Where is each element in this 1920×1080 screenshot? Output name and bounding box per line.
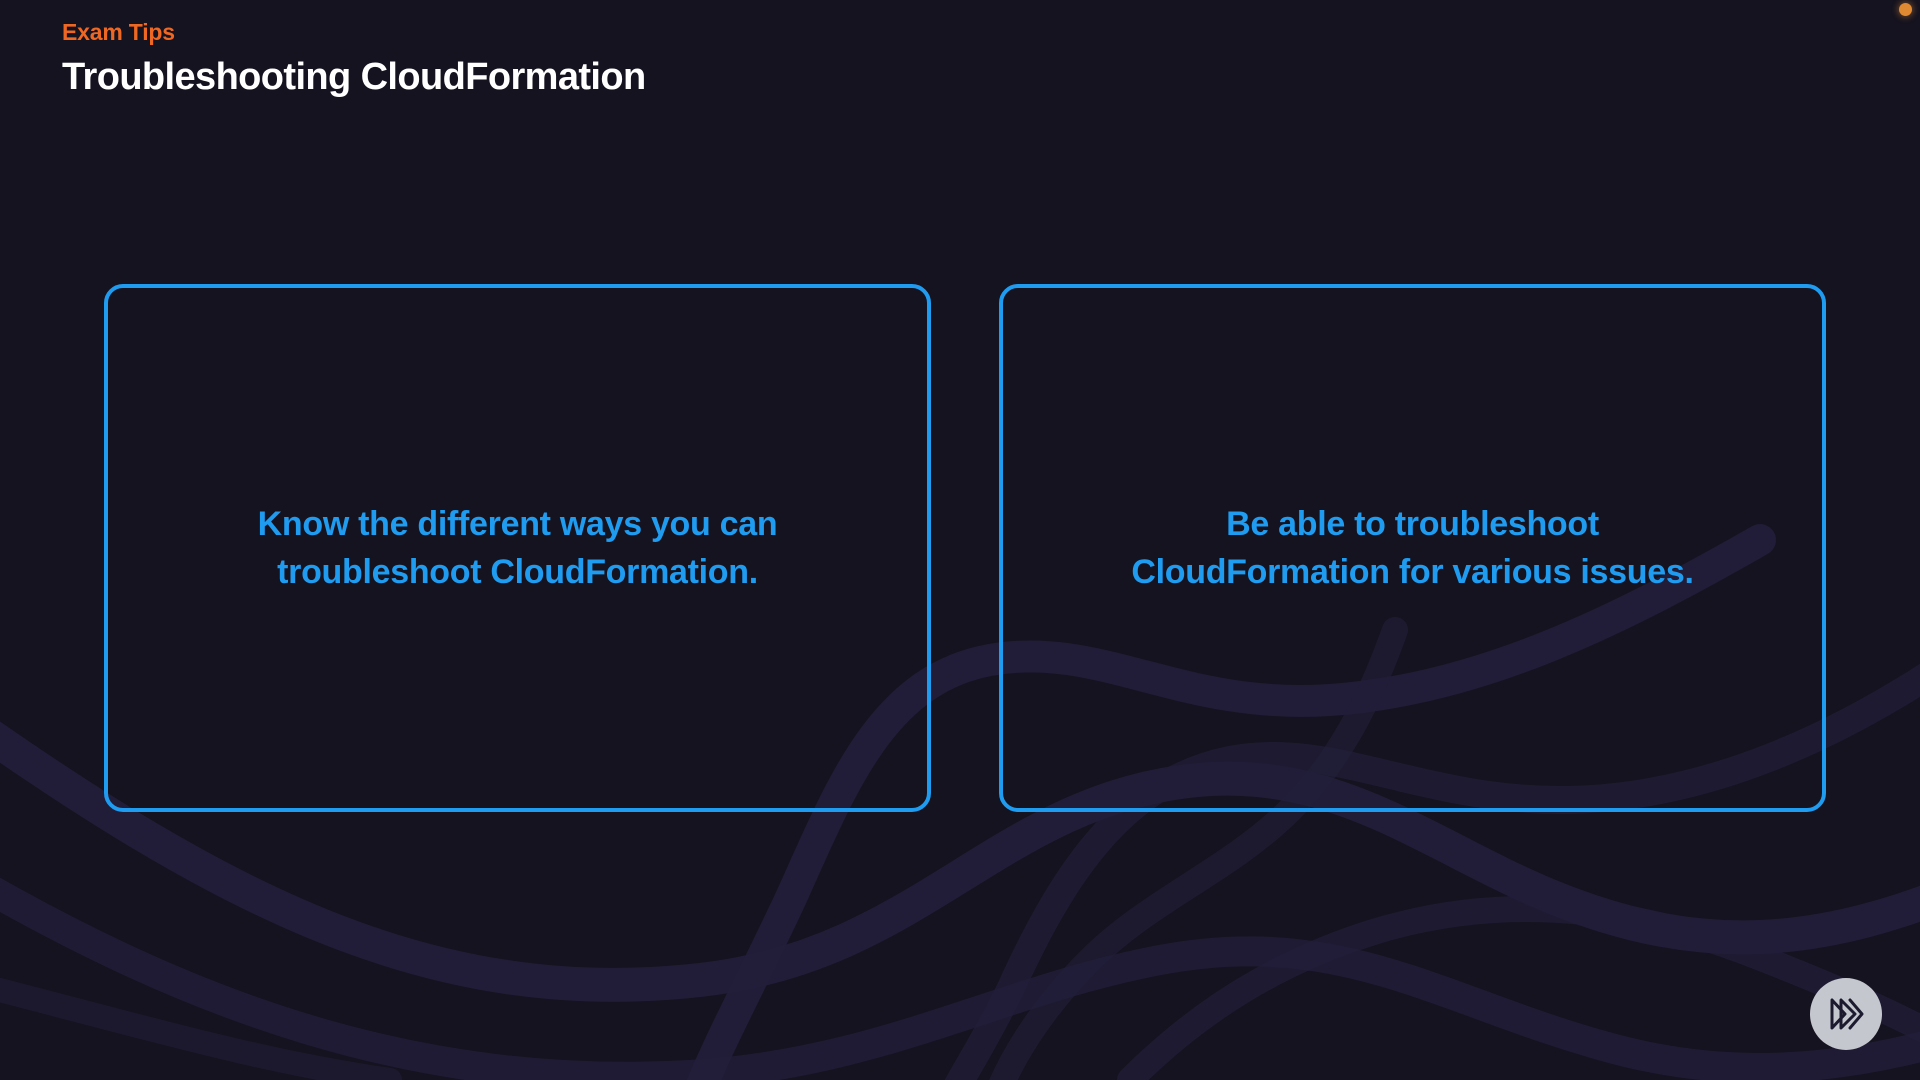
slide-header: Exam Tips Troubleshooting CloudFormation bbox=[62, 18, 646, 102]
tip-card-left-text: Know the different ways you can troubles… bbox=[198, 500, 838, 597]
tip-card-right-text: Be able to troubleshoot CloudFormation f… bbox=[1093, 500, 1733, 597]
tip-card-left: Know the different ways you can troubles… bbox=[104, 284, 931, 812]
orange-dot-icon bbox=[1899, 3, 1912, 16]
slide-root: Exam Tips Troubleshooting CloudFormation… bbox=[0, 0, 1920, 1080]
tip-card-right: Be able to troubleshoot CloudFormation f… bbox=[999, 284, 1826, 812]
play-triangle-logo-icon bbox=[1810, 978, 1882, 1050]
eyebrow-label: Exam Tips bbox=[62, 18, 646, 47]
card-group: Know the different ways you can troubles… bbox=[104, 284, 1826, 812]
page-title: Troubleshooting CloudFormation bbox=[62, 53, 646, 102]
